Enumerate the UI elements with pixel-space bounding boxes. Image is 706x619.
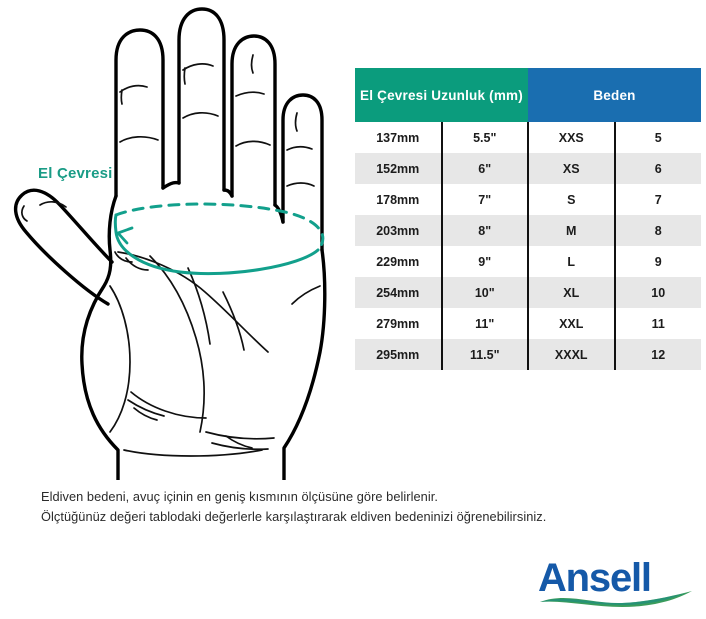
hand-circumference-label: El Çevresi bbox=[38, 165, 113, 182]
table-row: 229mm9"L9 bbox=[355, 246, 701, 277]
table-row: 254mm10"XL10 bbox=[355, 277, 701, 308]
cell-circumference-inch: 6" bbox=[442, 153, 529, 184]
note-line-1: Eldiven bedeni, avuç içinin en geniş kıs… bbox=[41, 487, 671, 507]
cell-circumference-inch: 7" bbox=[442, 184, 529, 215]
cell-circumference-mm: 137mm bbox=[355, 122, 442, 153]
cell-circumference-mm: 229mm bbox=[355, 246, 442, 277]
cell-size-letter: S bbox=[528, 184, 615, 215]
table-row: 203mm8"M8 bbox=[355, 215, 701, 246]
cell-size-number: 6 bbox=[615, 153, 702, 184]
cell-circumference-mm: 178mm bbox=[355, 184, 442, 215]
cell-size-letter: XXS bbox=[528, 122, 615, 153]
header-size: Beden bbox=[528, 68, 701, 122]
cell-size-letter: XS bbox=[528, 153, 615, 184]
cell-circumference-mm: 152mm bbox=[355, 153, 442, 184]
header-circumference: El Çevresi Uzunluk (mm) bbox=[355, 68, 528, 122]
ansell-logo: Ansell bbox=[536, 556, 696, 608]
table-row: 152mm6"XS6 bbox=[355, 153, 701, 184]
ansell-swoosh-icon bbox=[536, 588, 696, 608]
cell-circumference-inch: 11" bbox=[442, 308, 529, 339]
cell-circumference-inch: 9" bbox=[442, 246, 529, 277]
cell-size-letter: L bbox=[528, 246, 615, 277]
cell-size-letter: XXL bbox=[528, 308, 615, 339]
cell-circumference-inch: 10" bbox=[442, 277, 529, 308]
cell-size-number: 10 bbox=[615, 277, 702, 308]
cell-size-number: 8 bbox=[615, 215, 702, 246]
cell-circumference-inch: 11.5" bbox=[442, 339, 529, 370]
table-row: 295mm11.5"XXXL12 bbox=[355, 339, 701, 370]
cell-circumference-inch: 8" bbox=[442, 215, 529, 246]
table-header-row: El Çevresi Uzunluk (mm) Beden bbox=[355, 68, 701, 122]
cell-size-number: 7 bbox=[615, 184, 702, 215]
cell-size-number: 5 bbox=[615, 122, 702, 153]
table-body: 137mm5.5"XXS5152mm6"XS6178mm7"S7203mm8"M… bbox=[355, 122, 701, 370]
hand-palm-diagram: El Çevresi bbox=[0, 0, 350, 480]
size-table-element: El Çevresi Uzunluk (mm) Beden 137mm5.5"X… bbox=[355, 68, 701, 370]
cell-size-letter: XXXL bbox=[528, 339, 615, 370]
hand-outline-svg bbox=[0, 0, 350, 480]
cell-circumference-inch: 5.5" bbox=[442, 122, 529, 153]
instruction-note: Eldiven bedeni, avuç içinin en geniş kıs… bbox=[41, 487, 671, 527]
table-row: 279mm11"XXL11 bbox=[355, 308, 701, 339]
cell-size-letter: M bbox=[528, 215, 615, 246]
table-row: 137mm5.5"XXS5 bbox=[355, 122, 701, 153]
cell-size-number: 9 bbox=[615, 246, 702, 277]
cell-circumference-mm: 203mm bbox=[355, 215, 442, 246]
cell-circumference-mm: 254mm bbox=[355, 277, 442, 308]
table-header: El Çevresi Uzunluk (mm) Beden bbox=[355, 68, 701, 122]
cell-circumference-mm: 279mm bbox=[355, 308, 442, 339]
cell-size-number: 11 bbox=[615, 308, 702, 339]
table-row: 178mm7"S7 bbox=[355, 184, 701, 215]
cell-size-letter: XL bbox=[528, 277, 615, 308]
size-chart-page: El Çevresi El Çevresi Uzunluk (mm) Beden… bbox=[0, 0, 706, 619]
cell-circumference-mm: 295mm bbox=[355, 339, 442, 370]
cell-size-number: 12 bbox=[615, 339, 702, 370]
note-line-2: Ölçtüğünüz değeri tablodaki değerlerle k… bbox=[41, 507, 671, 527]
glove-size-table: El Çevresi Uzunluk (mm) Beden 137mm5.5"X… bbox=[355, 68, 701, 370]
